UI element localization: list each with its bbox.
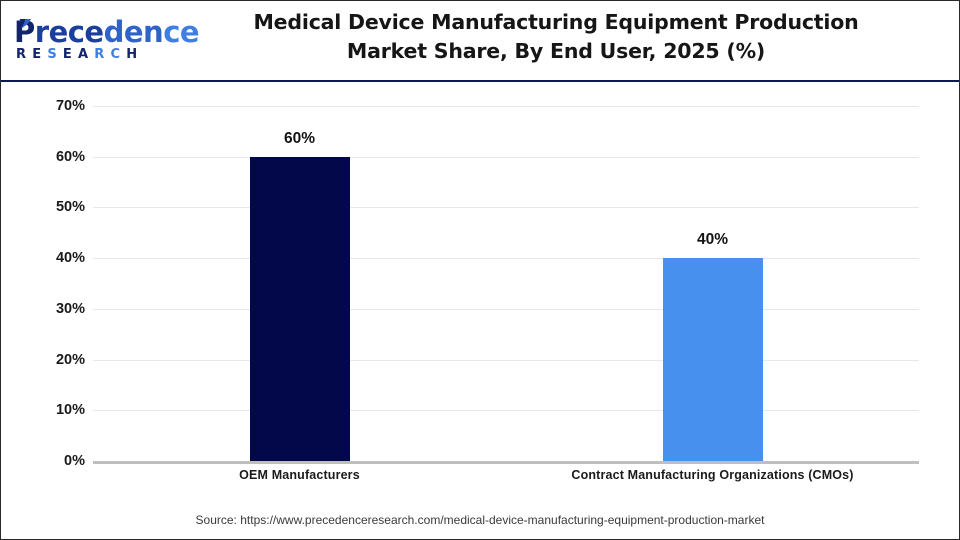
- x-axis-line: [93, 461, 919, 464]
- bar[interactable]: [663, 258, 763, 461]
- chart-figure: Precedence RESEARCH Medical Device Manuf…: [0, 0, 960, 540]
- gridline: [93, 360, 919, 361]
- gridline: [93, 410, 919, 411]
- source-caption: Source: https://www.precedenceresearch.c…: [1, 513, 959, 527]
- gridline: [93, 157, 919, 158]
- chart-title-line-1: Medical Device Manufacturing Equipment P…: [191, 8, 921, 37]
- logo-subtext: RESEARCH: [16, 48, 143, 62]
- logo-subtext-letter-4: E: [63, 47, 78, 62]
- gridline: [93, 106, 919, 107]
- chart-plot-area: 0%10%20%30%40%50%60%70%60%OEM Manufactur…: [1, 82, 959, 539]
- bar-value-label: 40%: [643, 232, 783, 248]
- y-axis-tick-label: 40%: [1, 251, 85, 265]
- logo-subtext-letter-6: R: [94, 47, 110, 62]
- y-axis-tick-label: 60%: [1, 150, 85, 164]
- gridline: [93, 309, 919, 310]
- leaf-icon: [18, 18, 33, 33]
- x-axis-tick-label: Contract Manufacturing Organizations (CM…: [506, 468, 919, 482]
- logo-subtext-letter-7: C: [110, 47, 126, 62]
- y-axis-tick-label: 20%: [1, 353, 85, 367]
- logo-subtext-letter-8: H: [126, 47, 143, 62]
- logo-wordmark-part-3: den: [104, 15, 164, 49]
- bar[interactable]: [250, 157, 350, 461]
- y-axis-tick-label: 50%: [1, 200, 85, 214]
- x-axis-tick-label: OEM Manufacturers: [93, 468, 506, 482]
- bar-value-label: 60%: [230, 131, 370, 147]
- logo-wordmark-part-2: rece: [35, 15, 104, 49]
- logo-wordmark-text: Precedence: [14, 17, 199, 47]
- chart-title: Medical Device Manufacturing Equipment P…: [191, 8, 921, 66]
- chart-header: Precedence RESEARCH Medical Device Manuf…: [1, 1, 959, 81]
- logo-subtext-letter-5: A: [78, 47, 94, 62]
- y-axis-tick-label: 0%: [1, 454, 85, 468]
- y-axis-tick-label: 70%: [1, 99, 85, 113]
- chart-title-line-2: Market Share, By End User, 2025 (%): [191, 37, 921, 66]
- logo-subtext-letter-1: R: [16, 47, 32, 62]
- y-axis-tick-label: 10%: [1, 403, 85, 417]
- logo-subtext-letter-2: E: [32, 47, 47, 62]
- gridline: [93, 207, 919, 208]
- precedence-research-logo: Precedence RESEARCH: [14, 17, 174, 65]
- gridline: [93, 258, 919, 259]
- logo-subtext-letter-3: S: [47, 47, 63, 62]
- y-axis-tick-label: 30%: [1, 302, 85, 316]
